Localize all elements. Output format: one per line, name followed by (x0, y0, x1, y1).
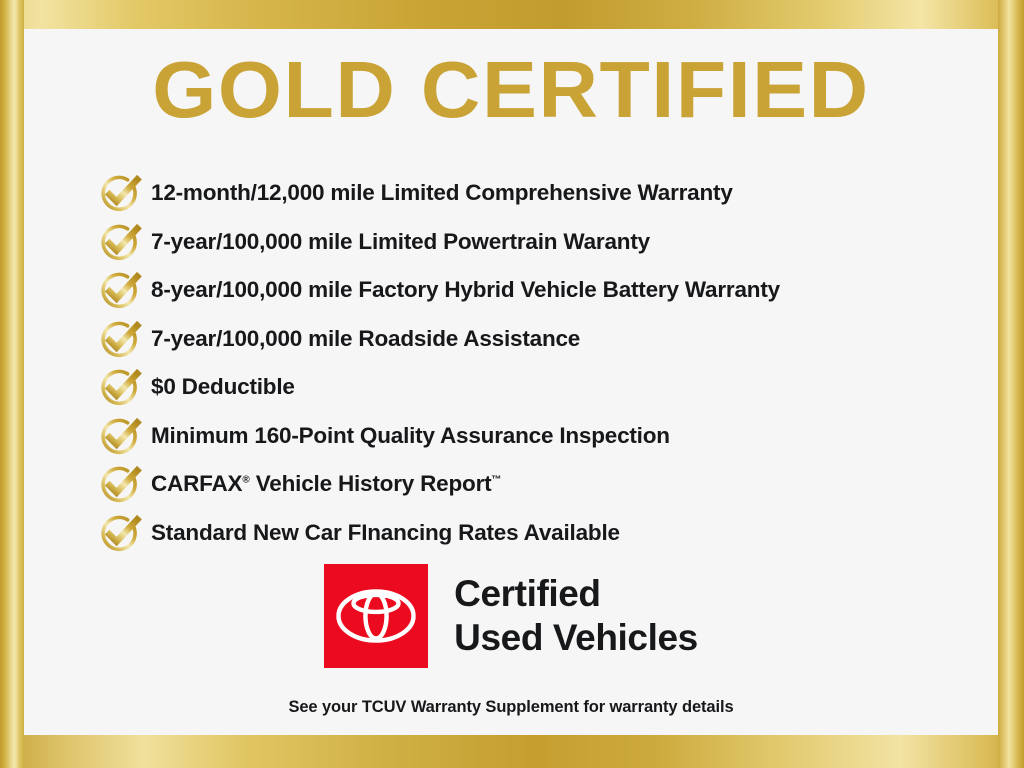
gold-check-icon (97, 219, 143, 265)
list-item: 12-month/12,000 mile Limited Comprehensi… (97, 169, 987, 218)
frame-bottom-edge (0, 735, 1024, 768)
benefit-list: 12-month/12,000 mile Limited Comprehensi… (97, 169, 987, 557)
toyota-wordmark-line2: Used Vehicles (454, 616, 698, 660)
gold-check-icon (97, 316, 143, 362)
list-item: Standard New Car FInancing Rates Availab… (97, 509, 987, 558)
benefit-label: 8-year/100,000 mile Factory Hybrid Vehic… (151, 279, 780, 302)
badge-card: GOLD CERTIFIED (24, 29, 998, 735)
registered-mark-icon: ® (242, 475, 249, 486)
list-item: $0 Deductible (97, 363, 987, 412)
benefit-label: $0 Deductible (151, 376, 295, 399)
benefit-label: Standard New Car FInancing Rates Availab… (151, 522, 620, 545)
list-item: 7-year/100,000 mile Limited Powertrain W… (97, 218, 987, 267)
gold-check-icon (97, 267, 143, 313)
list-item: 8-year/100,000 mile Factory Hybrid Vehic… (97, 266, 987, 315)
benefit-label-carfax: CARFAX® Vehicle History Report™ (151, 473, 501, 496)
frame-top-edge (0, 0, 1024, 29)
toyota-wordmark-line1: Certified (454, 572, 698, 616)
gold-check-icon (97, 170, 143, 216)
page-title: GOLD CERTIFIED (9, 50, 1012, 130)
footer-disclaimer: See your TCUV Warranty Supplement for wa… (24, 698, 998, 717)
trademark-mark-icon: ™ (491, 475, 501, 486)
benefit-label: 7-year/100,000 mile Roadside Assistance (151, 328, 580, 351)
carfax-label-rest: Vehicle History Report (250, 471, 492, 496)
toyota-emblem-icon (335, 586, 417, 646)
benefit-label: 7-year/100,000 mile Limited Powertrain W… (151, 231, 650, 254)
gold-check-icon (97, 461, 143, 507)
benefit-label: 12-month/12,000 mile Limited Comprehensi… (151, 182, 733, 205)
toyota-logo-tile (324, 564, 428, 668)
toyota-certified-used-vehicles-logo: Certified Used Vehicles (24, 564, 998, 668)
gold-check-icon (97, 413, 143, 459)
gold-check-icon (97, 510, 143, 556)
gold-check-icon (97, 364, 143, 410)
carfax-wordmark: CARFAX (151, 471, 242, 496)
toyota-wordmark: Certified Used Vehicles (454, 572, 698, 659)
gold-certified-badge: GOLD CERTIFIED (0, 0, 1024, 768)
list-item: Minimum 160-Point Quality Assurance Insp… (97, 412, 987, 461)
list-item: CARFAX® Vehicle History Report™ (97, 460, 987, 509)
benefit-label: Minimum 160-Point Quality Assurance Insp… (151, 425, 670, 448)
list-item: 7-year/100,000 mile Roadside Assistance (97, 315, 987, 364)
